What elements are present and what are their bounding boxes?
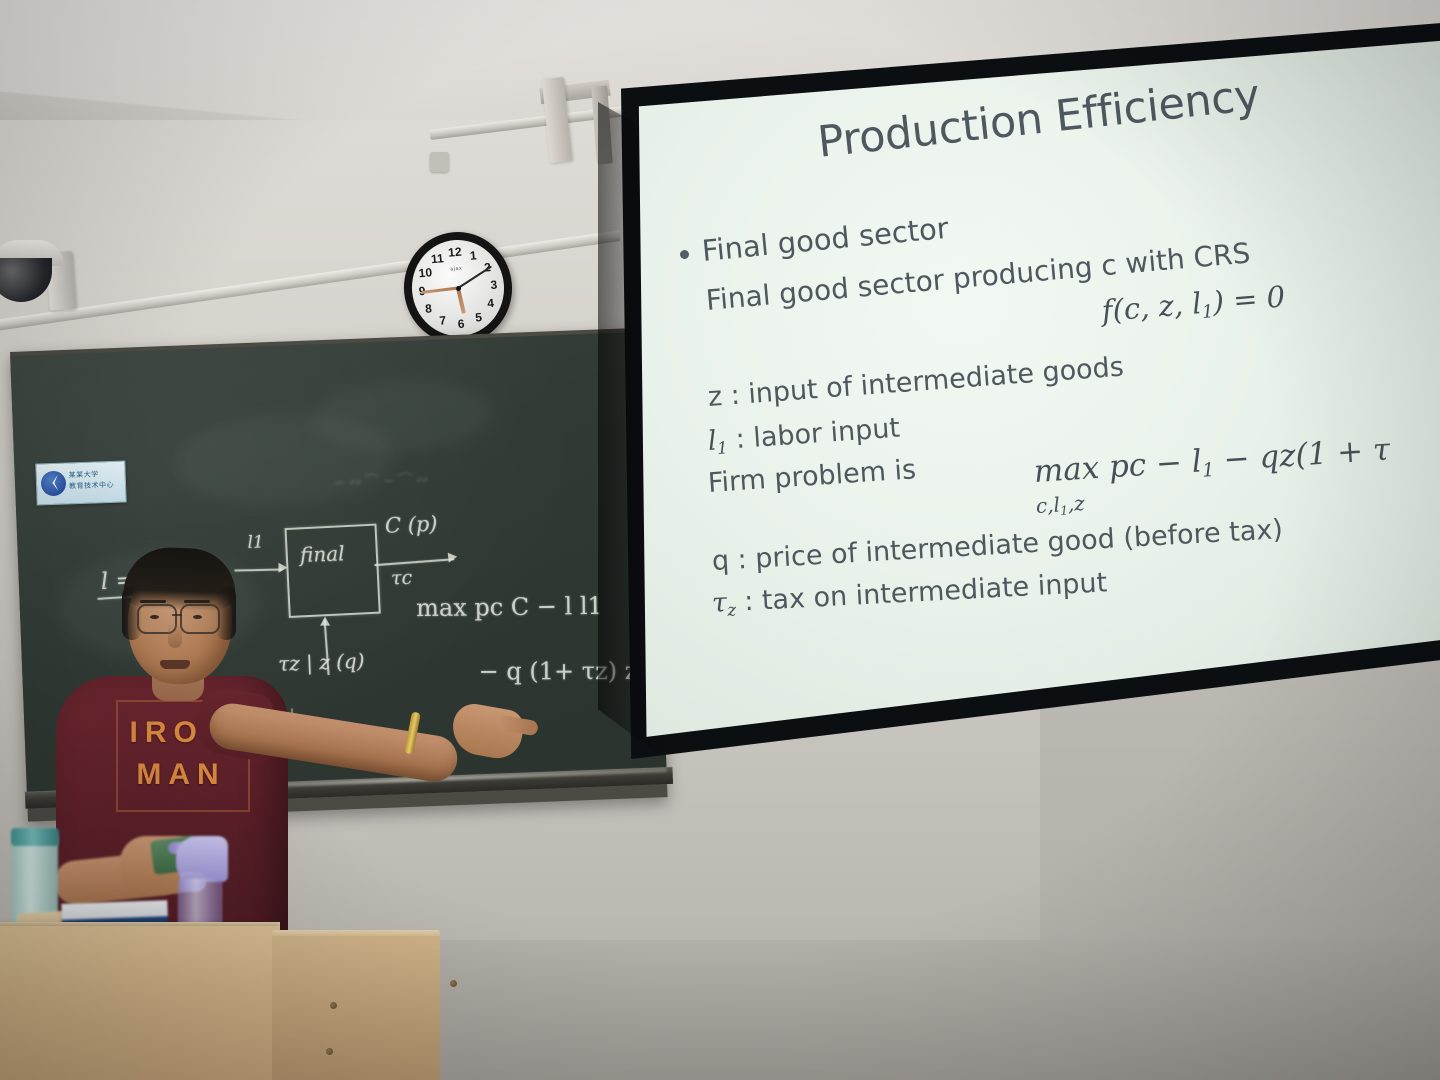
podium bbox=[0, 926, 280, 1080]
eye-left bbox=[150, 615, 159, 619]
clock-numeral-7: 7 bbox=[435, 313, 450, 328]
sticker-line-2: 教育技术中心 bbox=[69, 480, 114, 493]
eye-right bbox=[193, 615, 202, 619]
school-logo-icon bbox=[41, 471, 67, 497]
podium-screw-2 bbox=[330, 1002, 337, 1009]
podium-screw-1 bbox=[450, 980, 457, 987]
slide-bullet-text: Final good sector bbox=[700, 211, 950, 268]
sticker-text: 某某大学 教育技术中心 bbox=[69, 469, 115, 493]
slide-objective: max pc − l1 − qz(1 + τ bbox=[1033, 432, 1391, 493]
slide-line-z-def: z : input of intermediate goods bbox=[707, 352, 1125, 413]
clock-numeral-8: 8 bbox=[421, 301, 436, 316]
chalk-arrow-out bbox=[374, 558, 454, 566]
chalk-box-final bbox=[284, 524, 380, 618]
chalk-label-tau-z: τz | z (q) bbox=[278, 649, 365, 676]
chalk-max-line1: max pc C − l l1 bbox=[416, 592, 603, 622]
clock-numeral-1: 1 bbox=[466, 248, 481, 263]
mouth bbox=[160, 660, 190, 669]
glasses-right-lens bbox=[180, 604, 220, 634]
chalk-label-output-price: C (p) bbox=[384, 512, 437, 538]
lecture-hall-photo: ajax 121234567891011 ∽∾⌒∼⌒∾ l = l l1 fin… bbox=[0, 0, 1440, 1080]
slide-bullet-icon bbox=[680, 250, 689, 259]
eyebrow-right bbox=[184, 600, 210, 603]
clock-numeral-3: 3 bbox=[486, 277, 501, 292]
chalk-arrow-up bbox=[324, 619, 330, 675]
glasses-bridge bbox=[172, 614, 182, 616]
chalk-label-l1: l1 bbox=[247, 532, 264, 553]
clock-center-pin bbox=[455, 285, 460, 290]
chalk-arrow-in bbox=[235, 569, 283, 572]
school-sticker: 某某大学 教育技术中心 bbox=[35, 460, 126, 505]
slide-line-labor-def: l1 : labor input bbox=[707, 413, 901, 459]
slide-line-tax-def: τz : tax on intermediate input bbox=[711, 567, 1108, 620]
clock-numeral-12: 12 bbox=[447, 245, 462, 260]
podium-screw-3 bbox=[326, 1048, 333, 1055]
nose bbox=[168, 624, 182, 648]
chalk-label-tau-c: τc bbox=[391, 567, 413, 590]
slide-production-function: f(c, z, l1) = 0 bbox=[1101, 279, 1287, 331]
slide-line-firm-problem: Firm problem is bbox=[707, 454, 917, 499]
slide-objective-subscript: c,l1,z bbox=[1035, 491, 1085, 519]
thermos-lid bbox=[11, 828, 59, 846]
clock-brand-label: ajax bbox=[450, 265, 463, 272]
slide-content: Production Efficiency Final good sector … bbox=[604, 22, 1440, 762]
slide-line-q-def: q : price of intermediate good (before t… bbox=[711, 514, 1283, 577]
conduit-junction-box bbox=[430, 152, 449, 172]
podium-side-panel bbox=[272, 936, 440, 1080]
eyebrow-left bbox=[140, 600, 166, 603]
clock-numeral-10: 10 bbox=[418, 265, 433, 280]
clock-numeral-11: 11 bbox=[430, 251, 445, 266]
clock-numeral-4: 4 bbox=[483, 296, 498, 311]
projection-screen: Production Efficiency Final good sector … bbox=[604, 22, 1440, 762]
clock-numeral-6: 6 bbox=[454, 316, 469, 331]
shirt-line-2: MAN bbox=[116, 754, 246, 796]
clock-numeral-5: 5 bbox=[471, 310, 486, 325]
faded-chalk-marks: ∽∾⌒∼⌒∾ bbox=[333, 468, 432, 493]
